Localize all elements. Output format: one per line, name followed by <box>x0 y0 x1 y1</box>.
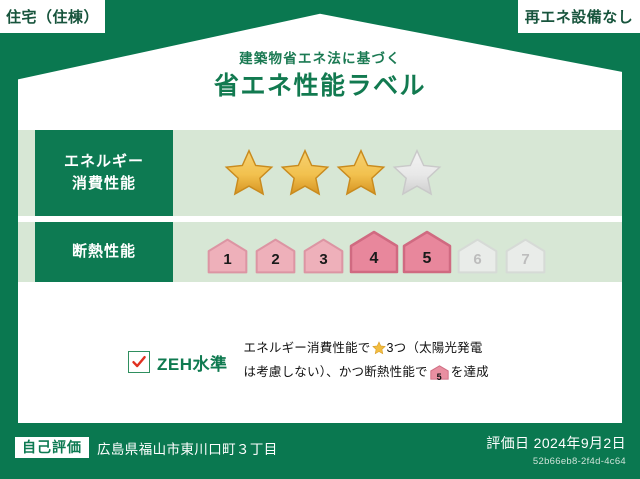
insulation-level-5: 5 <box>402 230 452 274</box>
self-evaluation-badge: 自己評価 <box>15 437 89 458</box>
inline-star-icon <box>372 341 386 362</box>
row-insulation-label: 断熱性能 <box>35 222 173 282</box>
row-energy-label-line2: 消費性能 <box>72 173 136 195</box>
star-rating <box>223 148 443 198</box>
property-address: 広島県福山市東川口町３丁目 <box>97 438 278 458</box>
insulation-level-2: 2 <box>253 238 298 274</box>
footer-right: 評価日 2024年9月2日 52b66eb8-2f4d-4c64 <box>486 433 626 467</box>
header-subtitle: 建築物省エネ法に基づく <box>0 52 640 66</box>
star-empty-icon <box>391 148 443 198</box>
row-energy-value <box>173 130 622 216</box>
inline-house-badge: 5 <box>430 365 449 387</box>
zeh-description: エネルギー消費性能で 3つ（太陽光発電 は考慮しない）、かつ断熱性能で 5 を達… <box>244 338 489 386</box>
house-icon <box>205 238 250 274</box>
insulation-level-4: 4 <box>349 230 399 274</box>
zeh-desc-text-c: は考慮しない）、かつ断熱性能で <box>244 365 428 379</box>
zeh-description-line1: エネルギー消費性能で 3つ（太陽光発電 <box>244 338 489 362</box>
zeh-desc-text-d: を達成 <box>451 365 489 379</box>
house-icon <box>503 238 548 274</box>
insulation-level-3: 3 <box>301 238 346 274</box>
house-icon <box>301 238 346 274</box>
tag-renewable-energy: 再エネ設備なし <box>518 0 640 33</box>
insulation-level-6: 6 <box>455 238 500 274</box>
row-insulation-value: 1234567 <box>173 222 622 282</box>
header-block: 建築物省エネ法に基づく 省エネ性能ラベル <box>0 52 640 99</box>
row-energy-label: エネルギー 消費性能 <box>35 130 173 216</box>
star-filled-icon <box>335 148 387 198</box>
star-filled-icon <box>223 148 275 198</box>
row-insulation-label-line1: 断熱性能 <box>72 241 136 263</box>
check-icon <box>131 354 147 370</box>
zeh-desc-text-b: 3つ（太陽光発電 <box>387 341 483 355</box>
zeh-checkbox[interactable] <box>128 351 150 373</box>
zeh-block: ZEH水準 エネルギー消費性能で 3つ（太陽光発電 は考慮しない）、かつ断熱性能… <box>18 338 622 386</box>
row-energy-performance: エネルギー 消費性能 <box>18 130 622 216</box>
house-icon <box>402 230 452 274</box>
insulation-level-scale: 1234567 <box>205 230 548 274</box>
star-filled-icon <box>279 148 331 198</box>
zeh-label: ZEH水準 <box>157 350 228 375</box>
house-icon <box>253 238 298 274</box>
zeh-desc-text-a: エネルギー消費性能で <box>244 341 371 355</box>
row-energy-label-line1: エネルギー <box>64 151 144 173</box>
tag-building-type: 住宅（住棟） <box>0 0 105 33</box>
insulation-level-7: 7 <box>503 238 548 274</box>
performance-rows: エネルギー 消費性能 断熱性能 1234567 <box>18 130 622 288</box>
house-icon <box>455 238 500 274</box>
house-icon <box>349 230 399 274</box>
row-insulation-performance: 断熱性能 1234567 <box>18 222 622 282</box>
insulation-level-1: 1 <box>205 238 250 274</box>
zeh-description-line2: は考慮しない）、かつ断熱性能で 5 を達成 <box>244 362 489 387</box>
footer-left: 自己評価 広島県福山市東川口町３丁目 <box>15 437 278 458</box>
inline-house-badge-number: 5 <box>430 370 449 385</box>
label-root: 住宅（住棟） 再エネ設備なし 建築物省エネ法に基づく 省エネ性能ラベル エネルギ… <box>0 0 640 479</box>
document-id: 52b66eb8-2f4d-4c64 <box>486 456 626 467</box>
page-title: 省エネ性能ラベル <box>0 74 640 99</box>
footer: 自己評価 広島県福山市東川口町３丁目 評価日 2024年9月2日 52b66eb… <box>0 423 640 479</box>
zeh-mark: ZEH水準 <box>128 350 228 375</box>
evaluation-date: 評価日 2024年9月2日 <box>486 433 626 453</box>
